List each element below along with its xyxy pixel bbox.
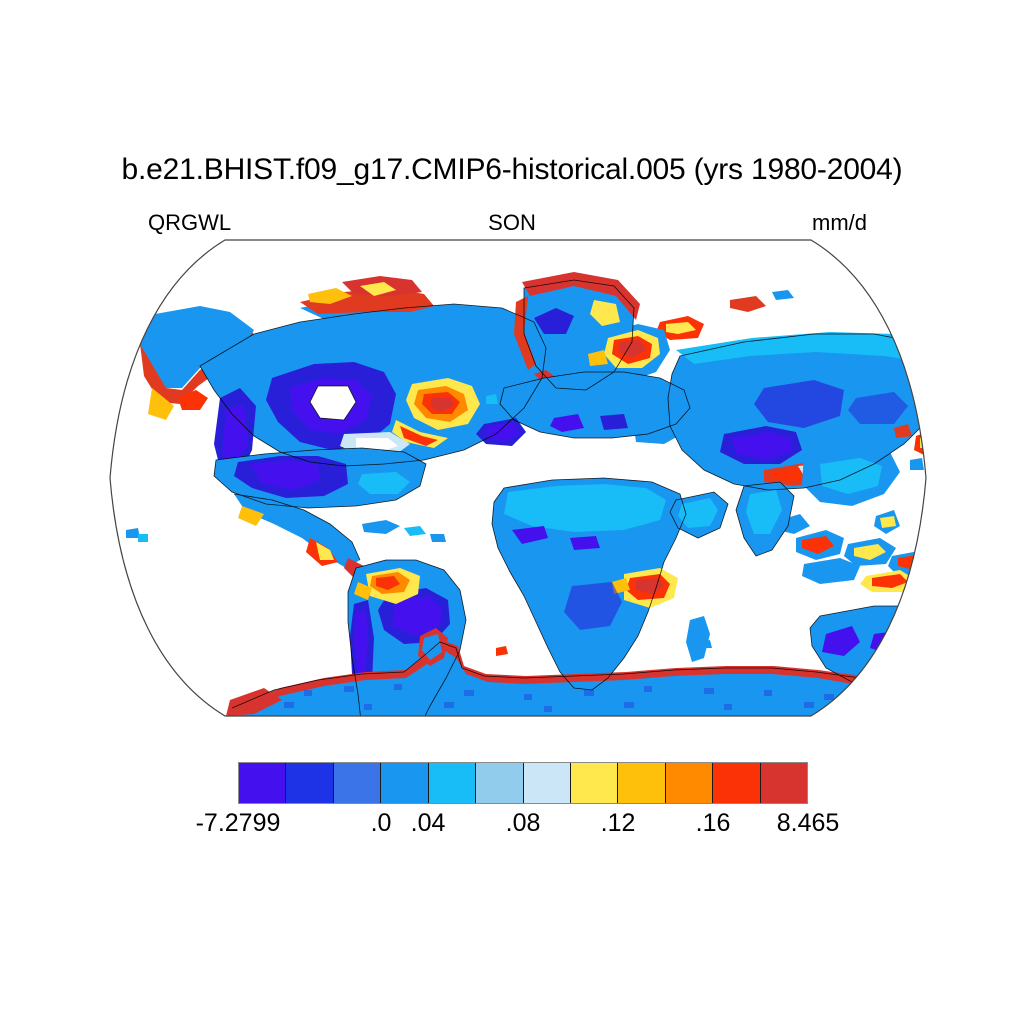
units-label: mm/d — [812, 210, 867, 236]
colorbar-segment-2 — [334, 763, 381, 803]
colorbar-segment-6 — [524, 763, 571, 803]
season-label: SON — [0, 210, 1024, 236]
colorbar-tick-label: .16 — [696, 808, 731, 838]
colorbar-tick-label: 8.465 — [777, 808, 840, 838]
colorbar — [238, 762, 808, 804]
colorbar-tick-label: .04 — [411, 808, 446, 838]
colorbar-segment-4 — [429, 763, 476, 803]
colorbar-tick-label: -7.2799 — [196, 808, 281, 838]
colorbar-segment-1 — [286, 763, 333, 803]
climate-map-figure: b.e21.BHIST.f09_g17.CMIP6-historical.005… — [0, 0, 1024, 1024]
world-map — [104, 238, 932, 718]
colorbar-segment-0 — [239, 763, 286, 803]
colorbar-segment-11 — [761, 763, 807, 803]
colorbar-segment-3 — [381, 763, 428, 803]
colorbar-segment-8 — [618, 763, 665, 803]
colorbar-tick-label: .12 — [601, 808, 636, 838]
colorbar-tick-labels: -7.2799.0.04.08.12.168.465 — [0, 808, 1024, 842]
page-title: b.e21.BHIST.f09_g17.CMIP6-historical.005… — [0, 152, 1024, 188]
colorbar-segment-7 — [571, 763, 618, 803]
colorbar-tick-label: .08 — [506, 808, 541, 838]
colorbar-segment-5 — [476, 763, 523, 803]
colorbar-segment-10 — [713, 763, 760, 803]
colorbar-segment-9 — [666, 763, 713, 803]
colorbar-tick-label: .0 — [371, 808, 392, 838]
